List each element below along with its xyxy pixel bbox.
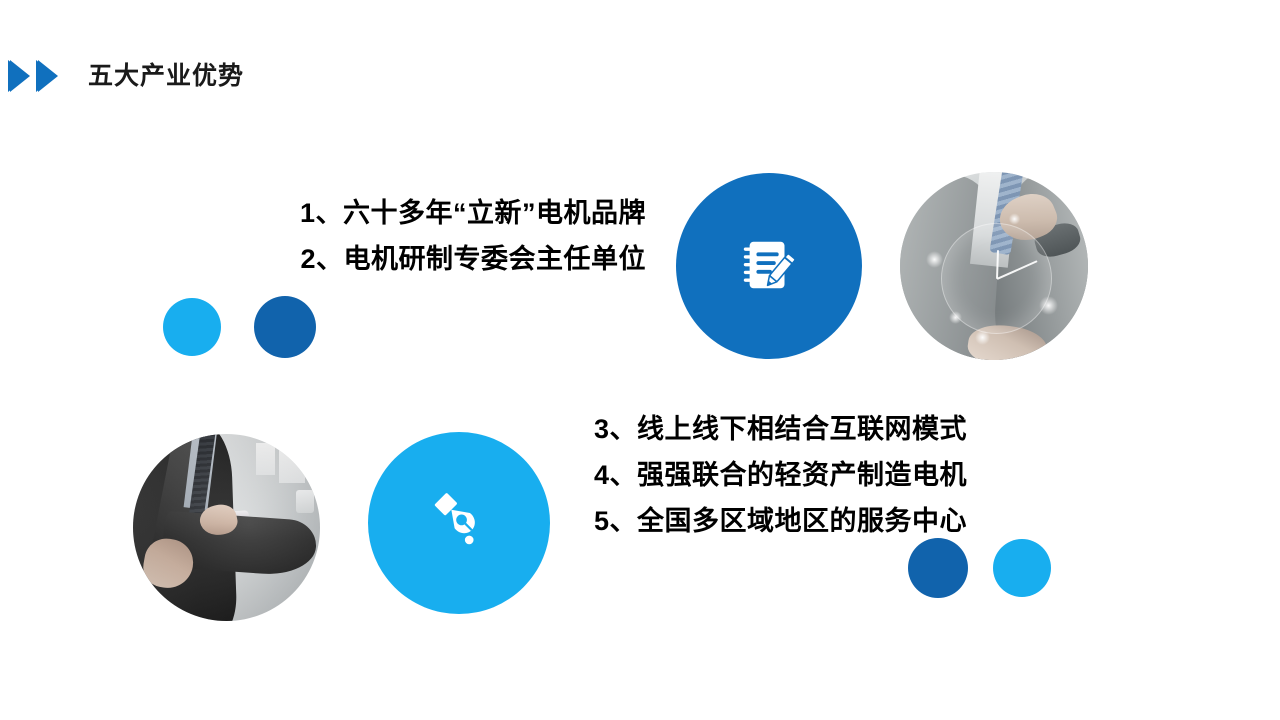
advantages-bottom-list: 3、线上线下相结合互联网模式 4、强强联合的轻资产制造电机 5、全国多区域地区的… xyxy=(594,406,994,544)
slide-canvas: 五大产业优势 1、六十多年“立新”电机品牌 2、电机研制专委会主任单位 3、线上… xyxy=(0,0,1280,720)
accent-dot-light-blue-top xyxy=(163,298,221,356)
advantage-item-5: 5、全国多区域地区的服务中心 xyxy=(594,498,994,544)
businessman-holding-clock-photo xyxy=(900,172,1088,360)
accent-dot-light-blue-bottom xyxy=(993,539,1051,597)
pen-icon-circle xyxy=(368,432,550,614)
fountain-pen-nib-icon xyxy=(426,488,492,559)
slide-header: 五大产业优势 xyxy=(0,52,600,100)
notebook-pencil-icon xyxy=(738,233,800,300)
page-title: 五大产业优势 xyxy=(88,64,244,89)
advantage-item-2: 2、电机研制专委会主任单位 xyxy=(258,236,646,282)
advantage-item-4: 4、强强联合的轻资产制造电机 xyxy=(594,452,994,498)
advantage-item-3: 3、线上线下相结合互联网模式 xyxy=(594,406,994,452)
advantages-top-list: 1、六十多年“立新”电机品牌 2、电机研制专委会主任单位 xyxy=(258,190,646,282)
double-chevron-right-icon xyxy=(8,58,72,94)
businessman-reading-folder-photo xyxy=(133,434,320,621)
advantage-item-1: 1、六十多年“立新”电机品牌 xyxy=(258,190,646,236)
accent-dot-deep-blue-bottom xyxy=(908,538,968,598)
notebook-icon-circle xyxy=(676,173,862,359)
accent-dot-deep-blue-top xyxy=(254,296,316,358)
